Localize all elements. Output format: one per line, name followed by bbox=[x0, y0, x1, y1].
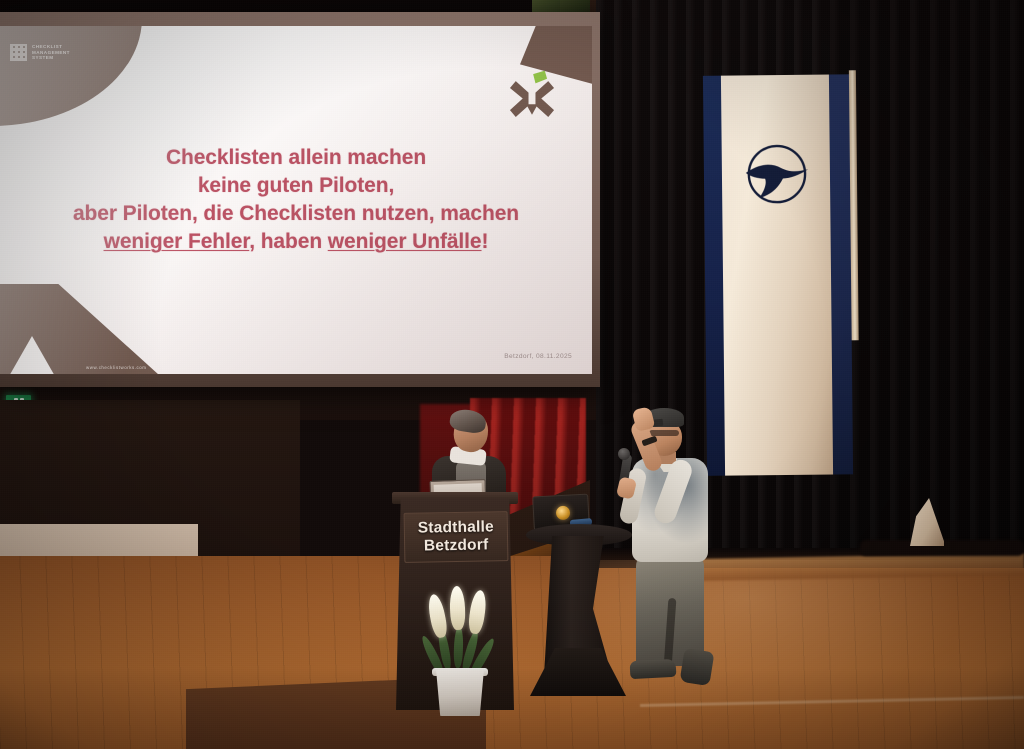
crane-bird-emblem-icon bbox=[740, 137, 815, 212]
slide-brand-wordmark: CHECKLIST MANAGEMENT SYSTEM bbox=[32, 44, 70, 60]
headline-line-4-mid: , haben bbox=[249, 230, 328, 253]
presentation-slide: CHECKLIST MANAGEMENT SYSTEM Checklisten … bbox=[0, 26, 592, 374]
venue-sign-line-2: Betzdorf bbox=[424, 536, 489, 555]
brand-line-3: SYSTEM bbox=[32, 55, 70, 60]
laptop-logo-icon bbox=[556, 506, 571, 521]
slide-corner-top-left bbox=[0, 26, 142, 126]
flower-bloom bbox=[449, 586, 466, 630]
speaker-shoe-left bbox=[630, 659, 677, 679]
flower-bloom bbox=[426, 593, 449, 639]
x-mark-logo-icon bbox=[503, 66, 561, 124]
banner-pole bbox=[849, 70, 859, 340]
headline-line-4: weniger Fehler, haben weniger Unfälle! bbox=[14, 228, 578, 256]
headline-line-4-end: ! bbox=[482, 230, 489, 253]
flower-bloom bbox=[467, 589, 488, 635]
speaker-with-microphone bbox=[616, 402, 726, 702]
headline-emphasis-1: weniger Fehler bbox=[104, 230, 250, 253]
slide-brand-logo: CHECKLIST MANAGEMENT SYSTEM bbox=[10, 44, 70, 61]
slide-footer-url: www.checklistworks.com bbox=[86, 365, 146, 370]
headline-emphasis-2: weniger Unfälle bbox=[328, 230, 482, 253]
conference-stage-photo: CHECKLIST MANAGEMENT SYSTEM Checklisten … bbox=[0, 0, 1024, 749]
flower-arrangement bbox=[410, 578, 506, 718]
headline-line-3: aber Piloten, die Checklisten nutzen, ma… bbox=[14, 200, 578, 228]
headline-line-2: keine guten Piloten, bbox=[14, 172, 578, 200]
speaker-shoe-right bbox=[680, 648, 715, 686]
banner-cloth bbox=[721, 75, 835, 476]
slide-headline: Checklisten allein machen keine guten Pi… bbox=[14, 144, 578, 256]
venue-sign-line-1: Stadthalle bbox=[418, 519, 494, 538]
projection-screen: CHECKLIST MANAGEMENT SYSTEM Checklisten … bbox=[0, 12, 600, 387]
wall-banner bbox=[703, 74, 867, 476]
flower-pot bbox=[434, 670, 486, 716]
qr-square-icon bbox=[10, 44, 27, 61]
venue-sign: Stadthalle Betzdorf bbox=[404, 511, 509, 563]
headline-line-1: Checklisten allein machen bbox=[14, 144, 578, 172]
slide-footer-date: Betzdorf, 08.11.2025 bbox=[300, 353, 572, 360]
